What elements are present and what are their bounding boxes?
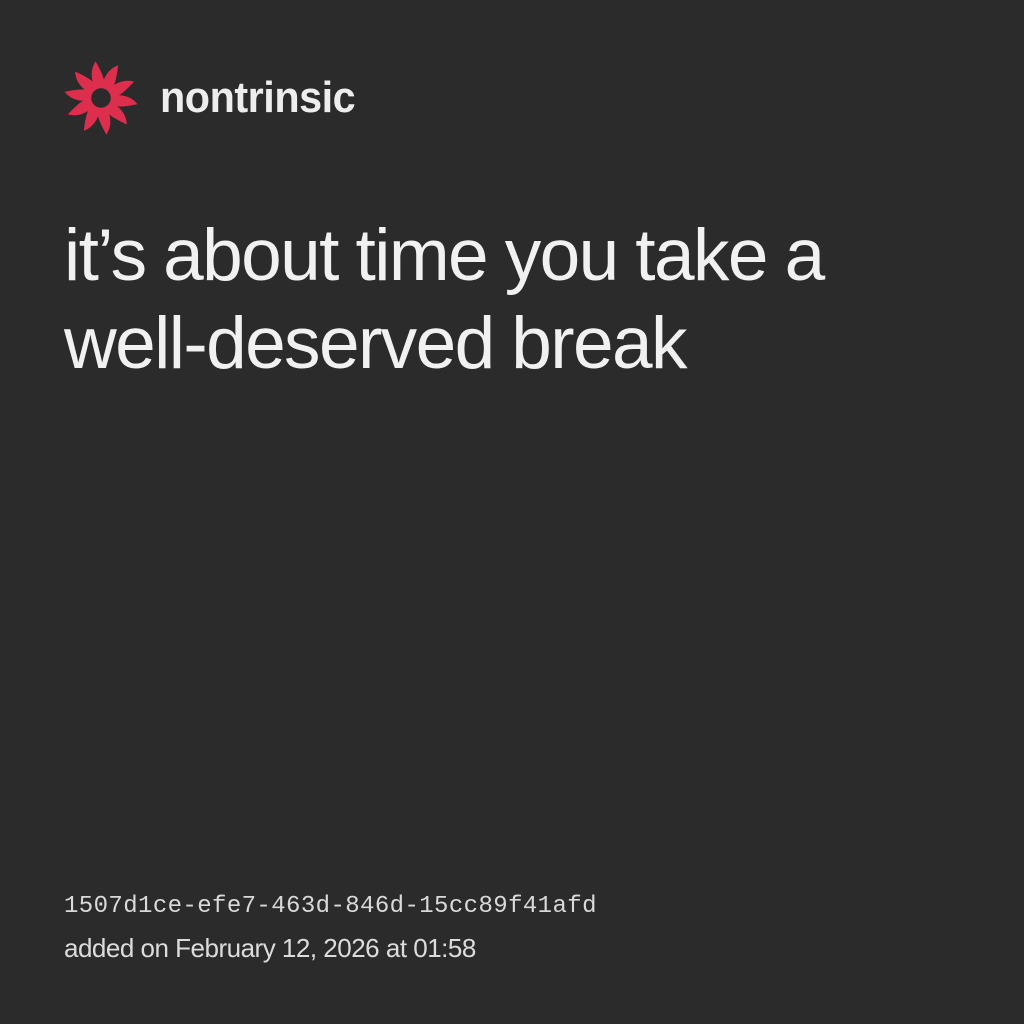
headline-region: it’s about time you take a well-deserved… xyxy=(64,138,960,889)
brand-wordmark: nontrinsic xyxy=(160,76,355,120)
record-id: 1507d1ce-efe7-463d-846d-15cc89f41afd xyxy=(64,889,960,925)
quote-card: nontrinsic it’s about time you take a we… xyxy=(0,0,1024,1024)
spiral-rosette-icon xyxy=(62,59,140,137)
meta-footer: 1507d1ce-efe7-463d-846d-15cc89f41afd add… xyxy=(64,889,960,968)
added-timestamp: added on February 12, 2026 at 01:58 xyxy=(64,930,960,968)
page-title: it’s about time you take a well-deserved… xyxy=(64,212,894,388)
brand-header: nontrinsic xyxy=(64,58,960,138)
